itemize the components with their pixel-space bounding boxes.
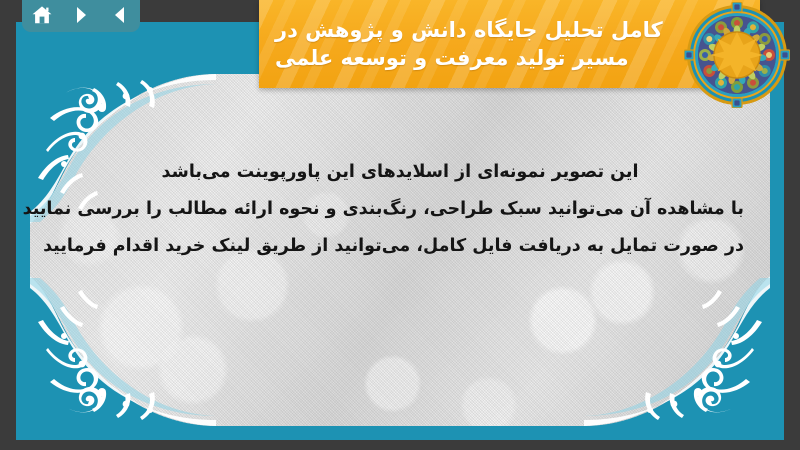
body-line-2: با مشاهده آن می‌توانید سبک طراحی، رنگ‌بن…	[56, 191, 744, 228]
title-line-1: کامل تحلیل جایگاه دانش و پژوهش در	[275, 16, 663, 44]
slide-viewer: این تصویر نمونه‌ای از اسلایدهای این پاور…	[0, 0, 800, 450]
navigation-bar	[22, 0, 140, 32]
body-line-1: این تصویر نمونه‌ای از اسلایدهای این پاور…	[56, 154, 744, 191]
arrow-right-icon	[71, 5, 91, 25]
slide-title-banner: کامل تحلیل جایگاه دانش و پژوهش در مسیر ت…	[259, 0, 760, 88]
title-line-2: مسیر تولید معرفت و توسعه علمی	[275, 44, 629, 72]
arrow-left-icon	[110, 5, 130, 25]
body-line-3: در صورت تمایل به دریافت فایل کامل، می‌تو…	[56, 228, 744, 265]
forward-button[interactable]	[66, 2, 96, 28]
slide-body-text: این تصویر نمونه‌ای از اسلایدهای این پاور…	[56, 154, 744, 265]
home-button[interactable]	[27, 2, 57, 28]
home-icon	[31, 5, 53, 25]
back-button[interactable]	[105, 2, 135, 28]
